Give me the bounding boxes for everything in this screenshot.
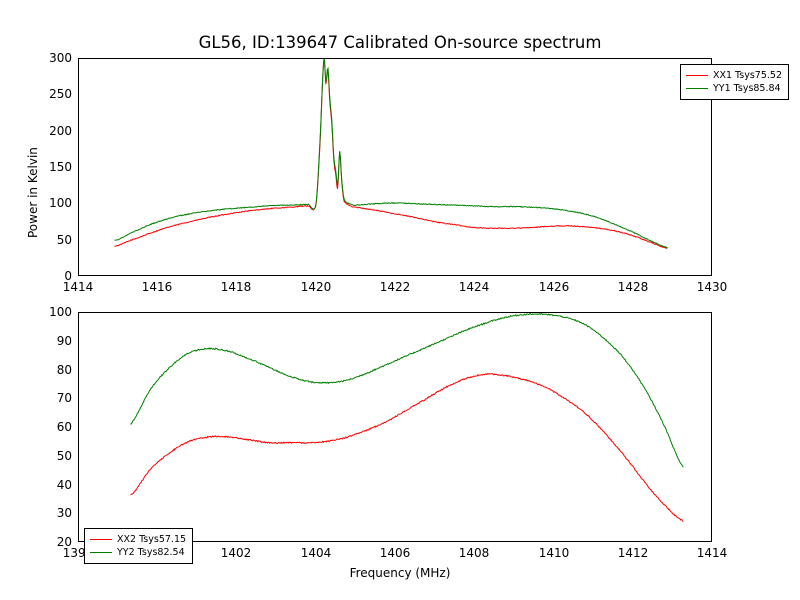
top-xtick-4: 1422 (380, 280, 411, 294)
top-xtick-8: 1430 (697, 280, 728, 294)
data-line (115, 59, 668, 248)
top-xtick-6: 1426 (539, 280, 570, 294)
bottom-xtick-6: 1410 (539, 546, 570, 560)
legend-line-icon (686, 88, 708, 89)
legend-line-icon (686, 75, 708, 76)
top-xtick-7: 1428 (618, 280, 649, 294)
top-legend: XX1 Tsys75.52 YY1 Tsys85.84 (680, 64, 789, 100)
bottom-legend-item-xx2: XX2 Tsys57.15 (90, 533, 186, 546)
top-legend-label-0: XX1 Tsys75.52 (713, 69, 782, 82)
top-ytick-0: 0 (36, 269, 72, 283)
bottom-xtick-2: 1402 (221, 546, 252, 560)
bottom-ytick-7: 90 (36, 334, 72, 348)
top-legend-item-yy1: YY1 Tsys85.84 (686, 82, 782, 95)
bottom-plot-svg (79, 313, 711, 541)
data-line (130, 374, 683, 522)
data-line (130, 314, 683, 467)
bottom-ytick-6: 80 (36, 363, 72, 377)
bottom-ytick-3: 50 (36, 449, 72, 463)
bottom-ytick-5: 70 (36, 391, 72, 405)
top-plot-area (78, 58, 712, 276)
bottom-ytick-4: 60 (36, 420, 72, 434)
bottom-legend: XX2 Tsys57.15 YY2 Tsys82.54 (84, 528, 193, 564)
x-axis-label: Frequency (MHz) (0, 566, 800, 580)
bottom-ytick-2: 40 (36, 478, 72, 492)
top-ytick-5: 250 (36, 87, 72, 101)
top-xtick-2: 1418 (221, 280, 252, 294)
legend-line-icon (90, 539, 112, 540)
figure-title: GL56, ID:139647 Calibrated On-source spe… (0, 33, 800, 52)
bottom-xtick-3: 1404 (301, 546, 332, 560)
bottom-ytick-8: 100 (36, 305, 72, 319)
bottom-plot-area (78, 312, 712, 542)
top-ytick-1: 50 (36, 233, 72, 247)
bottom-xtick-7: 1412 (618, 546, 649, 560)
bottom-ytick-1: 30 (36, 506, 72, 520)
legend-line-icon (90, 552, 112, 553)
bottom-legend-item-yy2: YY2 Tsys82.54 (90, 546, 186, 559)
bottom-legend-label-0: XX2 Tsys57.15 (117, 533, 186, 546)
top-xtick-5: 1424 (459, 280, 490, 294)
bottom-xtick-4: 1406 (380, 546, 411, 560)
bottom-ytick-0: 20 (36, 535, 72, 549)
top-ytick-6: 300 (36, 51, 72, 65)
bottom-xtick-5: 1408 (459, 546, 490, 560)
top-ytick-4: 200 (36, 124, 72, 138)
top-plot-svg (79, 59, 711, 275)
top-ytick-2: 100 (36, 196, 72, 210)
top-legend-label-1: YY1 Tsys85.84 (713, 82, 781, 95)
top-xtick-3: 1420 (301, 280, 332, 294)
bottom-legend-label-1: YY2 Tsys82.54 (117, 546, 185, 559)
top-ytick-3: 150 (36, 160, 72, 174)
figure: GL56, ID:139647 Calibrated On-source spe… (0, 0, 800, 600)
top-legend-item-xx1: XX1 Tsys75.52 (686, 69, 782, 82)
top-xtick-1: 1416 (142, 280, 173, 294)
bottom-xtick-8: 1414 (697, 546, 728, 560)
